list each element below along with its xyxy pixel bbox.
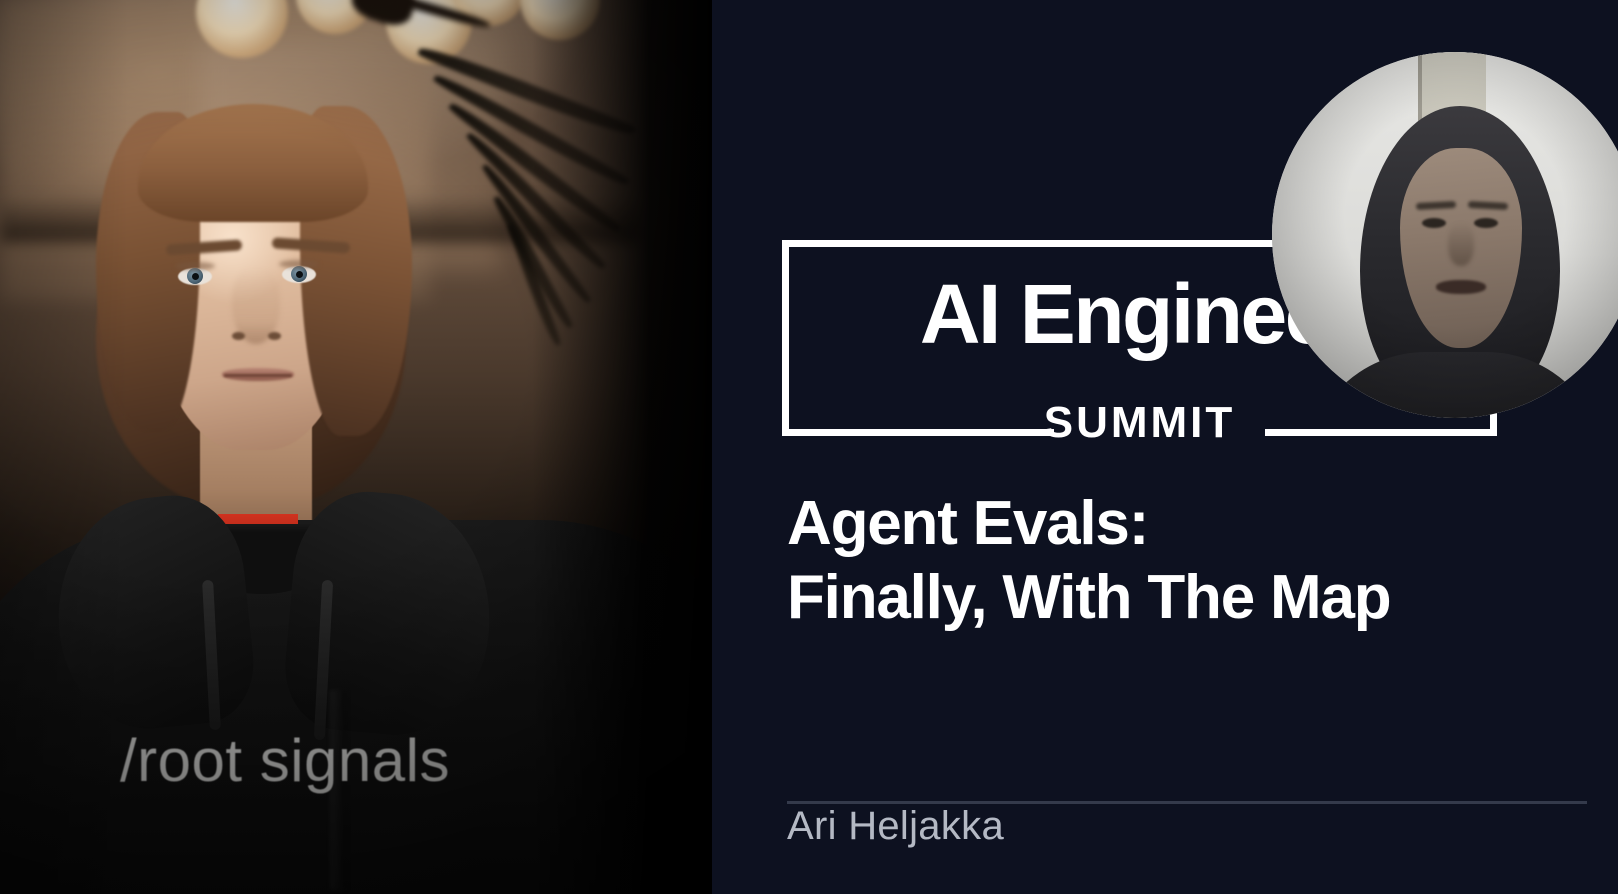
slide-stage: /root signals AI Engineer SUMMIT Agent E…	[0, 0, 1618, 894]
talk-title-line-2: Finally, With The Map	[787, 561, 1507, 635]
lip-line	[224, 374, 292, 377]
speaker-photo: /root signals	[0, 0, 712, 894]
photo-edge-fade	[532, 0, 712, 894]
title-panel: AI Engineer SUMMIT Agent Evals: Finally,…	[712, 0, 1618, 894]
talk-title: Agent Evals: Finally, With The Map	[787, 487, 1507, 636]
pupil-right	[296, 271, 303, 278]
eyelid-right	[279, 260, 319, 268]
pupil-left	[192, 273, 199, 280]
talk-title-line-1: Agent Evals:	[787, 487, 1507, 561]
presenter-webcam-bubble[interactable]	[1272, 52, 1618, 418]
eyelid-left	[175, 262, 215, 270]
hoodie-brand-text: /root signals	[120, 726, 450, 795]
nostril-left	[232, 332, 245, 340]
speaker-name: Ari Heljakka	[787, 803, 1004, 849]
nostril-right	[268, 332, 281, 340]
webcam-vignette	[1272, 52, 1618, 418]
